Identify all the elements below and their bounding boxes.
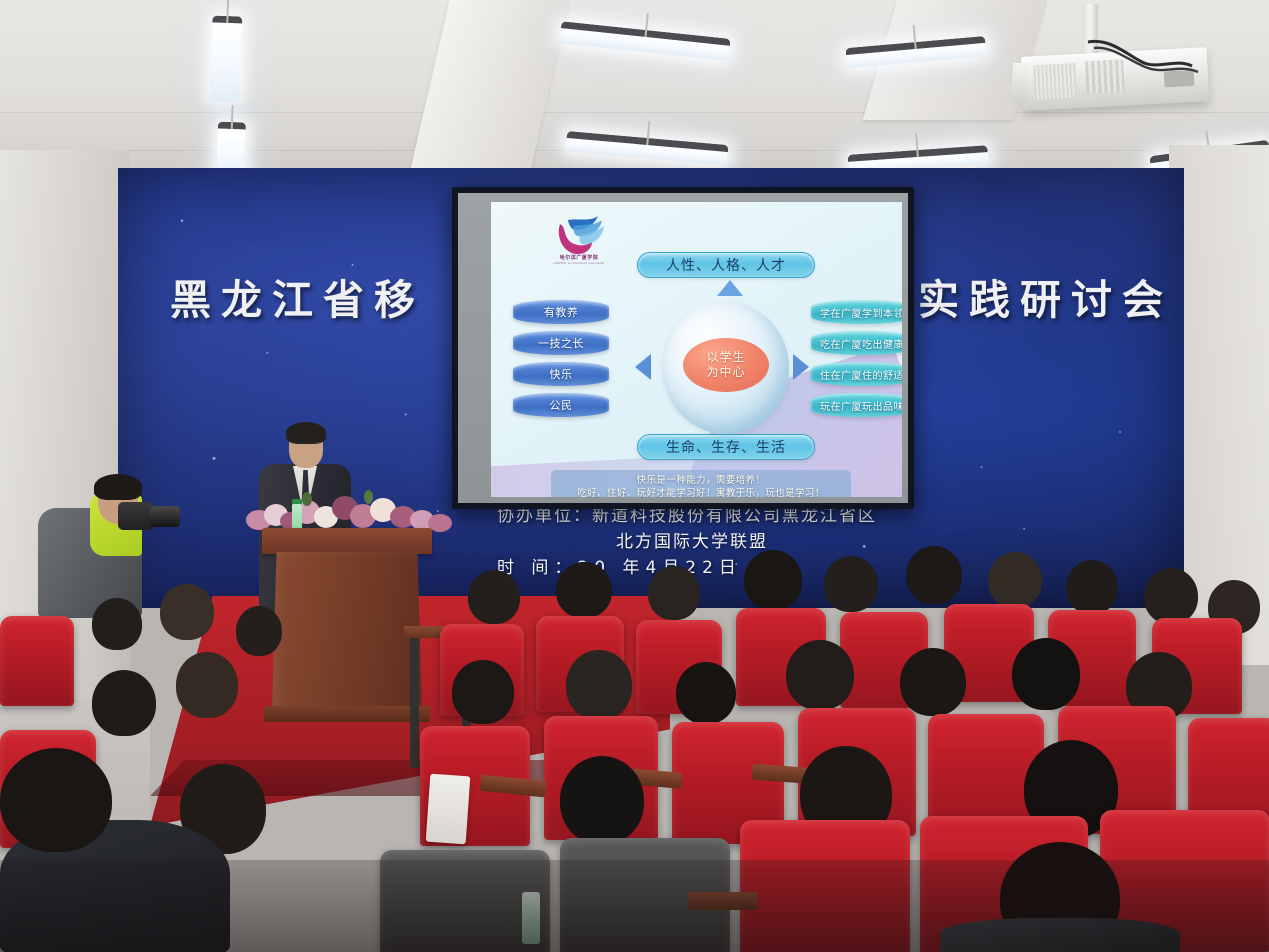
projector-vent (1033, 63, 1077, 99)
audience-head (824, 556, 878, 612)
audience-head (176, 652, 238, 718)
logo-text-cn: 哈尔滨广厦学院 (543, 254, 615, 261)
audience-head (92, 670, 156, 736)
presenter-hair (286, 422, 326, 444)
slide-pill-bottom: 生命、生存、生活 (637, 434, 815, 460)
audience-head (648, 566, 700, 620)
cylinder-item: 学在广厦学到本领 (811, 300, 902, 324)
cylinder-item: 快乐 (513, 362, 609, 386)
audience-head (906, 546, 962, 604)
auditorium-scene: 黑龙江省移 实践研讨会 协办单位：新道科技股份有限公司黑龙江省区 北方国际大学联… (0, 0, 1269, 952)
note-line-1: 快乐是一种能力，需要培养！ (557, 474, 845, 487)
core-line-1: 以学生 (706, 350, 745, 365)
cylinder-item: 住在广厦住的舒适 (811, 362, 902, 386)
audience-head (160, 584, 214, 640)
audience-head (786, 640, 854, 710)
audience-head (556, 562, 612, 618)
audience-head (468, 570, 520, 624)
presenter-glasses (291, 442, 321, 449)
cylinder-item: 一技之长 (513, 331, 609, 355)
slide-right-stack: 学在广厦学到本领 吃在广厦吃出健康 住在广厦住的舒适 玩在广厦玩出品味 (811, 300, 902, 424)
audience-head (988, 552, 1042, 608)
audience-head (92, 598, 142, 650)
slide-note-box: 快乐是一种能力，需要培养！ 吃好、住好、玩好才能学习好！寓教于乐，玩也是学习！ … (551, 470, 851, 497)
audience-head (1144, 568, 1198, 624)
backdrop-title-left: 黑龙江省移 (170, 266, 425, 326)
audience-head (676, 662, 736, 724)
audience-head (1066, 560, 1118, 614)
slide-center-core: 以学生 为中心 (683, 338, 769, 392)
projection-screen: 哈尔滨广厦学院 HARBIN GUANGSHA COLLEGE 人性、人格、人才… (452, 187, 914, 509)
audience-head (744, 550, 802, 610)
backdrop-title-right: 实践研讨会 (918, 266, 1173, 326)
slide-left-stack: 有教养 一技之长 快乐 公民 (513, 300, 609, 424)
photographer-hair (94, 474, 142, 500)
cylinder-item: 公民 (513, 393, 609, 417)
fluorescent-tube-light (210, 16, 243, 103)
audience-head (0, 748, 112, 852)
projector-lens (1011, 63, 1029, 104)
auditorium-seat (0, 616, 74, 706)
ceiling-beam (410, 0, 569, 170)
cylinder-item: 玩在广厦玩出品味 (811, 393, 902, 417)
note-line-2: 吃好、住好、玩好才能学习好！寓教于乐，玩也是学习！ (557, 487, 845, 497)
audience-head (452, 660, 514, 724)
presentation-slide: 哈尔滨广厦学院 HARBIN GUANGSHA COLLEGE 人性、人格、人才… (491, 202, 902, 497)
arrow-up-icon (717, 280, 743, 296)
projector-cables (1080, 36, 1230, 96)
arrow-right-icon (793, 354, 809, 380)
audience-head (236, 606, 282, 656)
audience-head (560, 756, 644, 844)
slide-pill-top: 人性、人格、人才 (637, 252, 815, 278)
floor-bag (426, 774, 471, 845)
logo-text-en: HARBIN GUANGSHA COLLEGE (543, 261, 615, 265)
audience-head (900, 648, 966, 716)
foreground-shadow (0, 860, 1269, 952)
audience-head (566, 650, 632, 720)
core-line-2: 为中心 (706, 365, 745, 380)
audience-head (1012, 638, 1080, 710)
arrow-left-icon (635, 354, 651, 380)
slide-center-sphere: 以学生 为中心 (663, 302, 789, 434)
cylinder-item: 有教养 (513, 300, 609, 324)
cylinder-item: 吃在广厦吃出健康 (811, 331, 902, 355)
